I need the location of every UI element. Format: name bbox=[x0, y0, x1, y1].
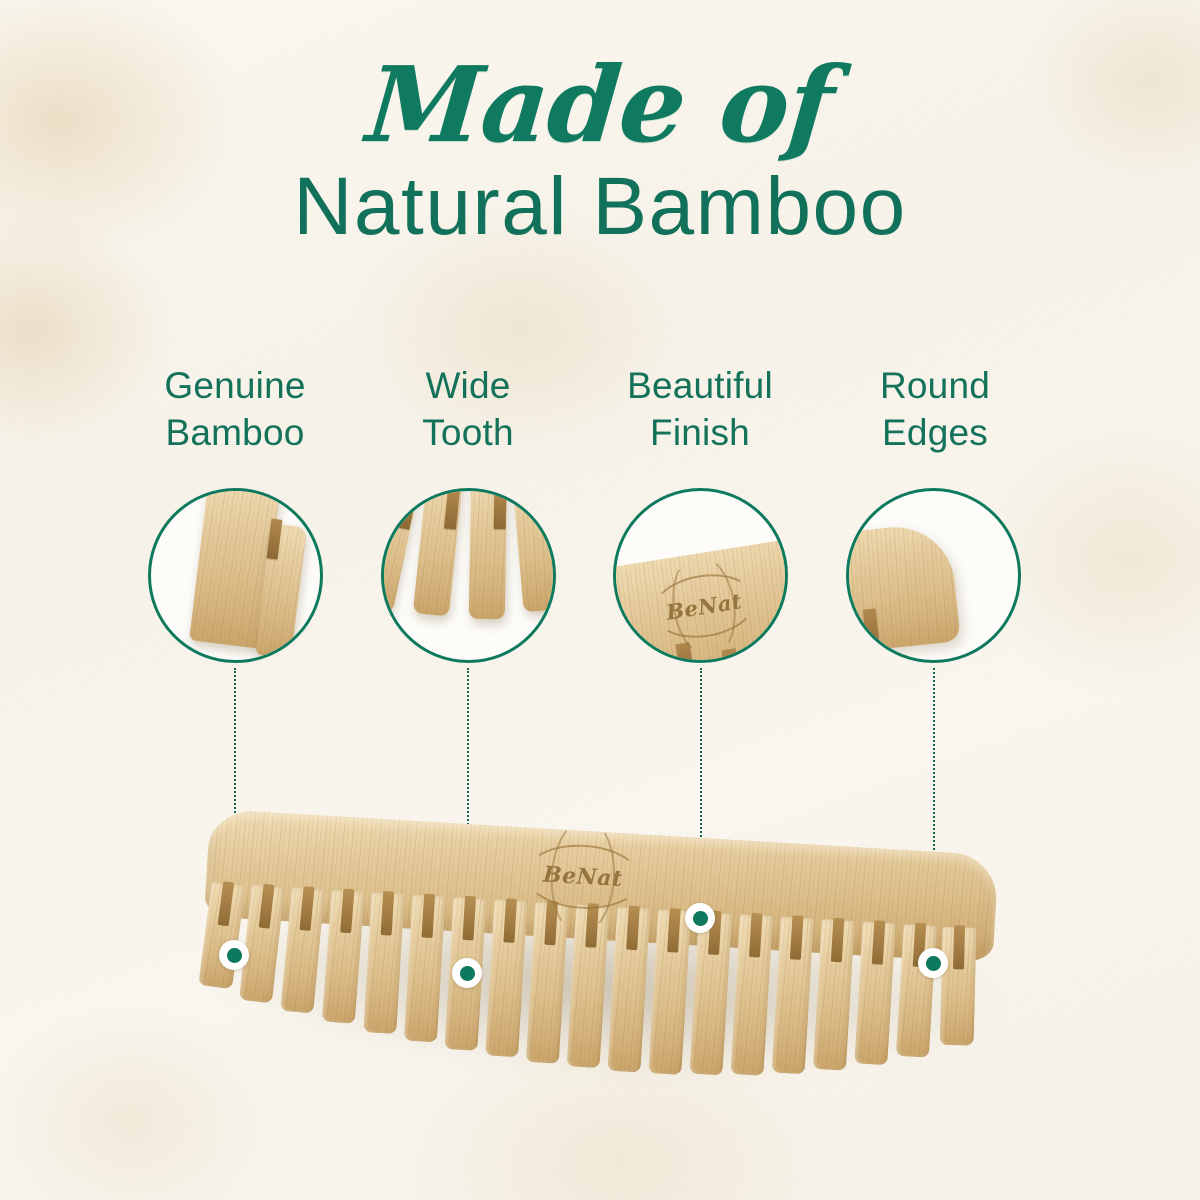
comb-teeth-closeup-icon bbox=[151, 491, 320, 660]
marker-dot-beautiful-finish bbox=[685, 903, 715, 933]
feature-label-line2: Edges bbox=[820, 410, 1050, 457]
marker-dot-core bbox=[926, 956, 941, 971]
headline-thin-line: Natural Bamboo bbox=[0, 164, 1200, 249]
infographic-poster: Made of Natural Bamboo Genuine Bamboo Wi… bbox=[0, 0, 1200, 1200]
feature-label-line1: Wide bbox=[353, 363, 583, 410]
feature-label-line2: Tooth bbox=[353, 410, 583, 457]
feature-label-line1: Beautiful bbox=[585, 363, 815, 410]
marker-dot-core bbox=[693, 911, 708, 926]
feature-label-line1: Round bbox=[820, 363, 1050, 410]
feature-callout-beautiful-finish[interactable]: BeNat bbox=[613, 488, 788, 663]
feature-label-wide-tooth: Wide Tooth bbox=[353, 363, 583, 456]
feature-label-genuine-bamboo: Genuine Bamboo bbox=[120, 363, 350, 456]
marker-dot-round-edges bbox=[918, 948, 948, 978]
feature-label-line2: Bamboo bbox=[120, 410, 350, 457]
headline-script-line: Made of bbox=[0, 52, 1200, 158]
marker-dot-genuine-bamboo bbox=[219, 940, 249, 970]
comb-brand-engraving: BeNat bbox=[523, 841, 643, 912]
feature-label-line2: Finish bbox=[585, 410, 815, 457]
feature-label-line1: Genuine bbox=[120, 363, 350, 410]
feature-callout-genuine-bamboo[interactable] bbox=[148, 488, 323, 663]
feature-callout-round-edges[interactable] bbox=[846, 488, 1021, 663]
brand-engraving-closeup-icon: BeNat bbox=[616, 491, 785, 660]
marker-dot-core bbox=[227, 948, 242, 963]
marker-dot-wide-tooth bbox=[452, 958, 482, 988]
wide-teeth-closeup-icon bbox=[384, 491, 553, 660]
marker-dot-core bbox=[460, 966, 475, 981]
rounded-corner-closeup-icon bbox=[849, 491, 1018, 660]
feature-callout-wide-tooth[interactable] bbox=[381, 488, 556, 663]
bamboo-comb-icon: BeNat bbox=[182, 786, 1018, 1134]
feature-label-beautiful-finish: Beautiful Finish bbox=[585, 363, 815, 456]
feature-label-round-edges: Round Edges bbox=[820, 363, 1050, 456]
headline-block: Made of Natural Bamboo bbox=[0, 52, 1200, 249]
